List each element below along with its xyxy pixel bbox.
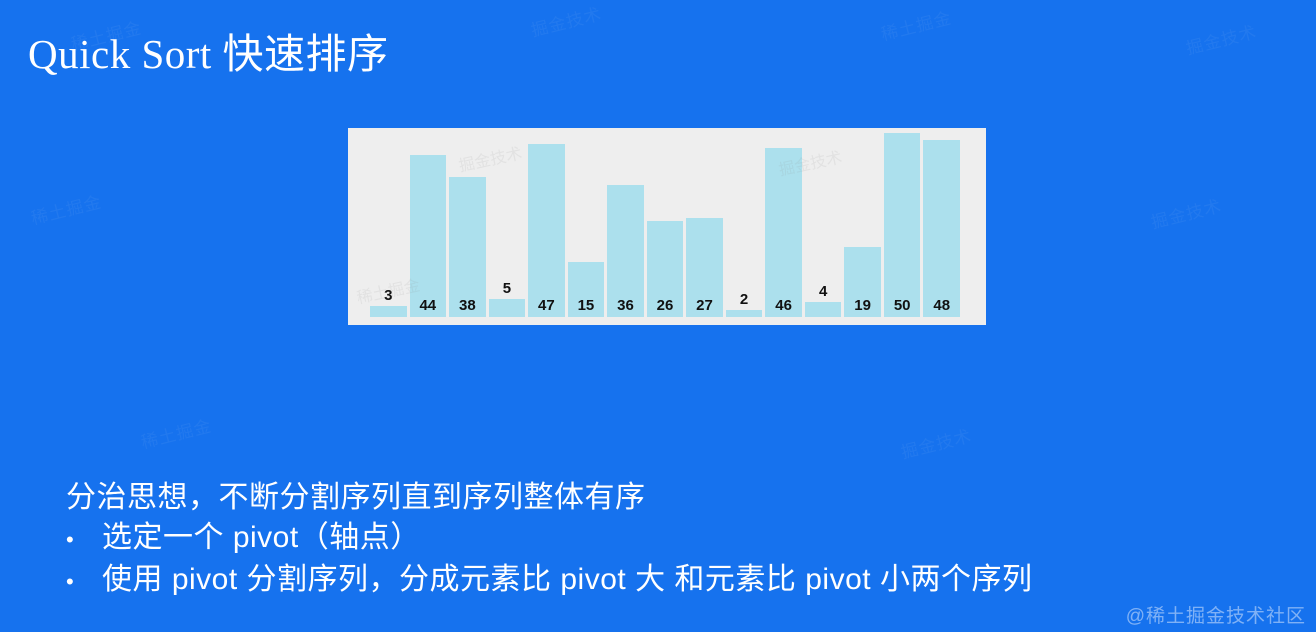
bar-slot: 15: [568, 133, 605, 317]
bar-value-label: 5: [503, 281, 511, 296]
bar: 15: [568, 262, 605, 317]
bullet-marker-icon: •: [66, 520, 102, 560]
bar: 46: [765, 148, 802, 317]
bar: 48: [923, 140, 960, 317]
watermark-tile: 掘金技术: [898, 422, 974, 464]
bar-slot: 2: [726, 133, 763, 317]
bar-value-label: 3: [384, 288, 392, 303]
bar: 44: [410, 155, 447, 317]
bullet-item-2-label: 使用 pivot 分割序列，分成元素比 pivot 大 和元素比 pivot 小…: [102, 560, 1032, 600]
bar-slot: 5: [489, 133, 526, 317]
bar-value-label: 44: [419, 298, 436, 317]
bullet-marker-icon: •: [66, 562, 102, 602]
bar-slot: 19: [844, 133, 881, 317]
slide-canvas: 稀土掘金 掘金技术 稀土掘金 掘金技术 稀土掘金 掘金技术 稀土掘金 掘金技术 …: [0, 0, 1316, 632]
bar-value-label: 47: [538, 298, 555, 317]
bar-value-label: 19: [854, 298, 871, 317]
corner-watermark: @稀土掘金技术社区: [1126, 601, 1306, 628]
bar-slot: 3: [370, 133, 407, 317]
lead-paragraph: 分治思想，不断分割序列直到序列整体有序: [66, 478, 1032, 518]
watermark-tile: 掘金技术: [1183, 18, 1259, 60]
body-text-block: 分治思想，不断分割序列直到序列整体有序 • 选定一个 pivot（轴点） • 使…: [66, 478, 1032, 602]
bar: 47: [528, 144, 565, 317]
bar-slot: 26: [647, 133, 684, 317]
bar: 19: [844, 247, 881, 317]
bar-value-label: 2: [740, 292, 748, 307]
bullet-item-1-label: 选定一个 pivot（轴点）: [102, 518, 421, 558]
bar: 50: [884, 133, 921, 317]
watermark-tile: 稀土掘金: [878, 4, 954, 46]
bar: 26: [647, 221, 684, 317]
bullet-item-2: • 使用 pivot 分割序列，分成元素比 pivot 大 和元素比 pivot…: [66, 560, 1032, 602]
bar: 38: [449, 177, 486, 317]
bar-value-label: 48: [933, 298, 950, 317]
bar: 4: [805, 302, 842, 317]
bar-value-label: 15: [578, 298, 595, 317]
bar-slot: 50: [884, 133, 921, 317]
bar-value-label: 36: [617, 298, 634, 317]
bar-slot: 44: [410, 133, 447, 317]
bar: 27: [686, 218, 723, 317]
bar: 3: [370, 306, 407, 317]
chart-plot-area: 34438547153626272464195048: [370, 133, 960, 317]
watermark-tile: 掘金技术: [1148, 192, 1224, 234]
bar-series: 34438547153626272464195048: [370, 133, 960, 317]
bullet-item-1: • 选定一个 pivot（轴点）: [66, 518, 1032, 560]
bar-value-label: 50: [894, 298, 911, 317]
bar-slot: 38: [449, 133, 486, 317]
bar-value-label: 38: [459, 298, 476, 317]
bar: 2: [726, 310, 763, 317]
bar-slot: 27: [686, 133, 723, 317]
bar-chart-panel: 掘金技术 稀土掘金 掘金技术 3443854715362627246419504…: [348, 128, 986, 325]
watermark-tile: 掘金技术: [528, 0, 604, 41]
watermark-tile: 稀土掘金: [138, 412, 214, 454]
bar-slot: 4: [805, 133, 842, 317]
bar-value-label: 27: [696, 298, 713, 317]
bar-slot: 36: [607, 133, 644, 317]
bar-slot: 47: [528, 133, 565, 317]
bar-slot: 46: [765, 133, 802, 317]
bar-value-label: 46: [775, 298, 792, 317]
bar: 5: [489, 299, 526, 317]
bar-value-label: 26: [657, 298, 674, 317]
bar-value-label: 4: [819, 284, 827, 299]
bar-slot: 48: [923, 133, 960, 317]
bar: 36: [607, 185, 644, 317]
watermark-tile: 稀土掘金: [28, 188, 104, 230]
page-title: Quick Sort 快速排序: [28, 32, 389, 77]
